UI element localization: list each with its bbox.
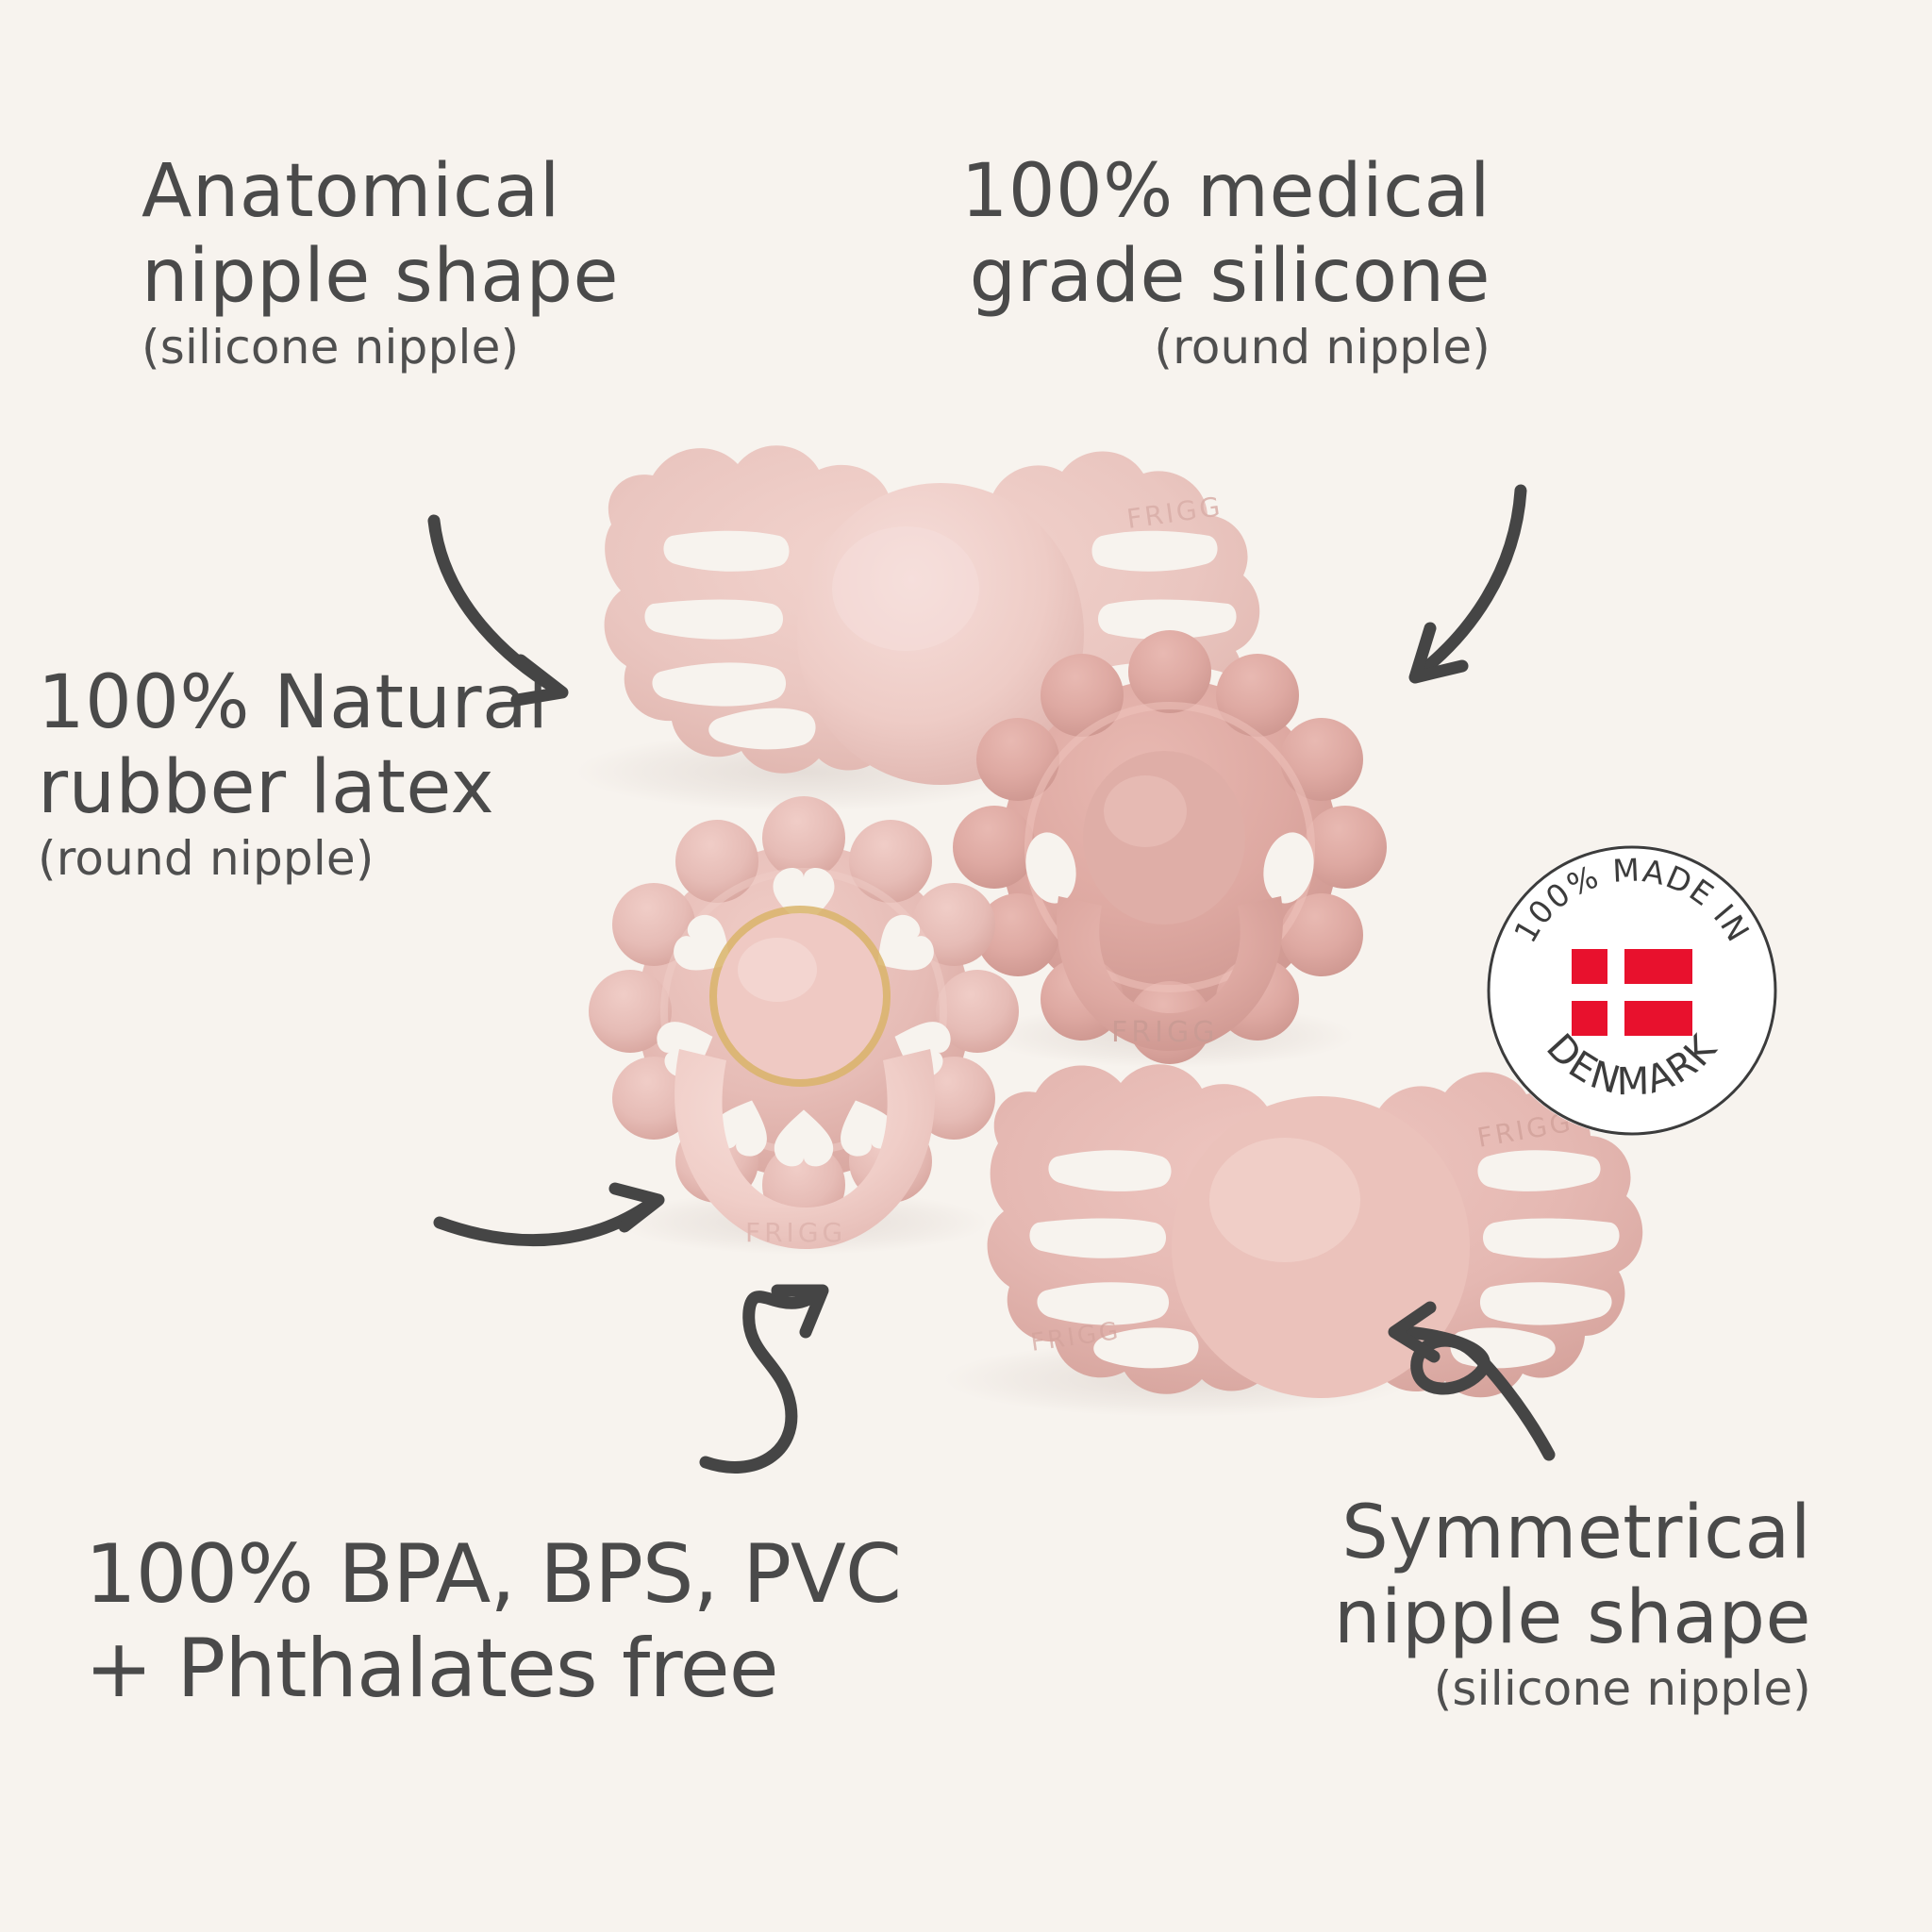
callout-anatomical-subline: (silicone nipple) [142, 320, 670, 375]
callout-medical-line1: 100% medical [906, 149, 1491, 234]
frigg-emboss: FRIGG [745, 1217, 846, 1248]
daisy-latex-pacifier: FRIGG [589, 796, 1019, 1255]
arrow-to-bpa [706, 1291, 823, 1467]
callout-symmetrical: Symmetrical nipple shape (silicone nippl… [1207, 1491, 1811, 1716]
callout-symmetrical-line2: nipple shape [1207, 1575, 1811, 1660]
callout-latex-subline: (round nipple) [38, 831, 575, 886]
callout-bpa-line1: 100% BPA, BPS, PVC [85, 1528, 877, 1623]
daisy-silicone-pacifier: FRIGG [953, 630, 1387, 1068]
danish-flag-icon [1572, 949, 1692, 1036]
arrow-to-symmetrical [1394, 1307, 1549, 1455]
callout-symmetrical-line1: Symmetrical [1207, 1491, 1811, 1575]
frigg-emboss: FRIGG [1124, 491, 1224, 535]
arrow-to-latex [440, 1189, 658, 1241]
infographic-canvas: FRIGG [0, 0, 1932, 1932]
arrow-to-medical [1415, 491, 1521, 677]
heart-cutouts [652, 868, 956, 1166]
callout-anatomical-line2: nipple shape [142, 234, 670, 319]
callout-latex-line2: rubber latex [38, 745, 575, 830]
butterfly-anatomical-pacifier: FRIGG [575, 445, 1259, 811]
callout-anatomical-line1: Anatomical [142, 149, 670, 234]
frigg-emboss: FRIGG [1029, 1317, 1123, 1357]
frigg-emboss: FRIGG [1111, 1016, 1218, 1049]
callout-bpa: 100% BPA, BPS, PVC + Phthalates free [85, 1528, 877, 1717]
callout-medical-subline: (round nipple) [906, 320, 1491, 375]
callout-latex-line1: 100% Natural [38, 660, 575, 745]
callout-symmetrical-subline: (silicone nipple) [1207, 1661, 1811, 1716]
made-in-denmark-badge: 100% MADE IN DENMARK [1481, 840, 1783, 1141]
callout-bpa-line2: + Phthalates free [85, 1623, 877, 1717]
callout-medical-line2: grade silicone [906, 234, 1491, 319]
callout-medical: 100% medical grade silicone (round nippl… [906, 149, 1491, 375]
callout-latex: 100% Natural rubber latex (round nipple) [38, 660, 575, 886]
callout-anatomical: Anatomical nipple shape (silicone nipple… [142, 149, 670, 375]
